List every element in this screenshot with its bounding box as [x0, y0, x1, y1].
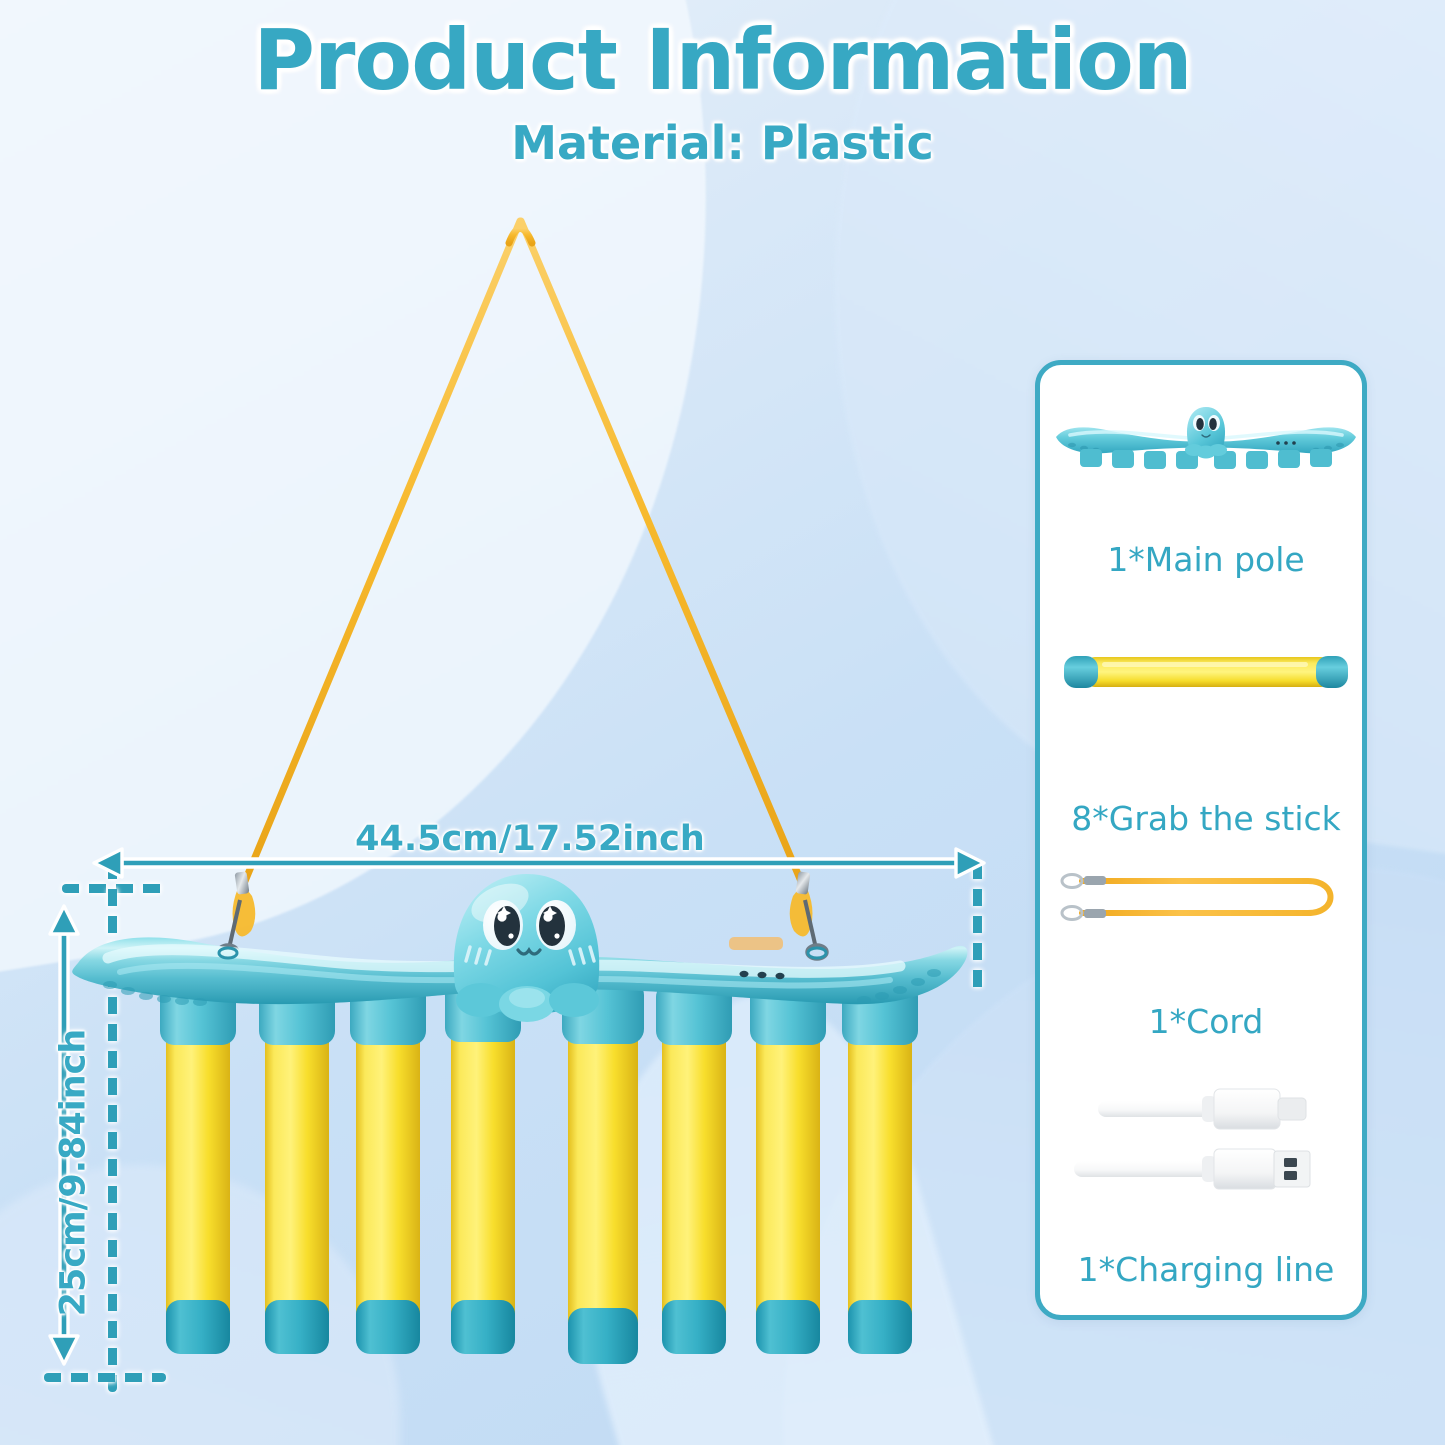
grab-stick	[662, 1020, 726, 1354]
cord-loop-icon	[1056, 861, 1356, 931]
octopus-eye-left	[483, 900, 523, 950]
main-pole-icon	[1050, 393, 1362, 485]
grab-stick	[166, 1020, 230, 1354]
cord-metal-tips	[1062, 875, 1106, 920]
grab-stick	[451, 1020, 515, 1354]
panel-label-main-pole: 1*Main pole	[1040, 543, 1372, 576]
octopus-eye-right	[536, 900, 576, 950]
grab-sticks-group	[166, 1020, 912, 1364]
grab-stick	[356, 1020, 420, 1354]
grab-stick-icon	[1062, 650, 1350, 694]
product-sticker	[729, 937, 783, 950]
parts-list-panel: 1*Main pole 8*Grab the stick	[1035, 360, 1367, 1320]
charging-cable-icon	[1068, 1079, 1344, 1209]
product-info-canvas: Product Information Material: Plastic	[0, 0, 1445, 1445]
panel-label-cord: 1*Cord	[1040, 1005, 1372, 1038]
grab-stick	[265, 1020, 329, 1354]
octopus-head	[454, 874, 599, 1022]
grab-stick	[756, 1020, 820, 1354]
cord-eyelet-right	[808, 948, 826, 958]
usb-c-connector	[1098, 1089, 1306, 1129]
usb-a-connector	[1074, 1149, 1310, 1189]
grab-stick	[848, 1020, 912, 1354]
grab-stick	[568, 1020, 638, 1364]
octopus-tentacle-bumps	[456, 983, 599, 1022]
panel-label-charging-line: 1*Charging line	[1040, 1253, 1372, 1286]
panel-label-grab-stick: 8*Grab the stick	[1040, 802, 1372, 835]
